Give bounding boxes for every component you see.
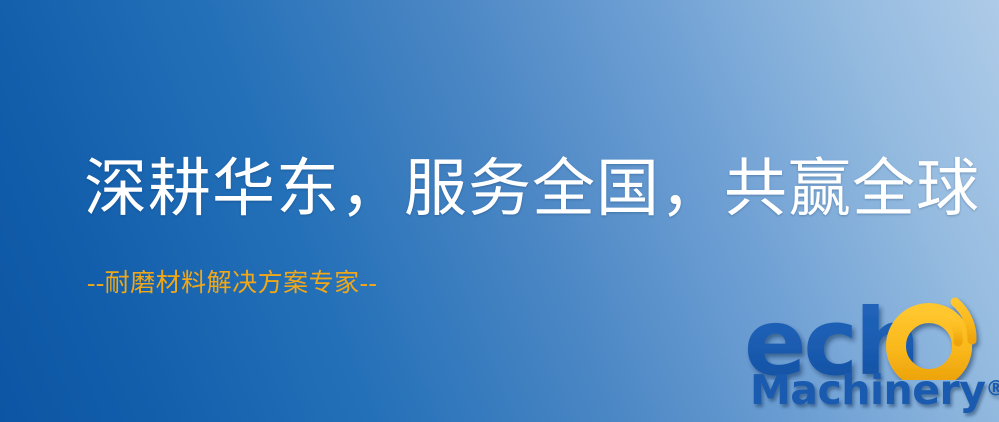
registered-mark: ® [985, 377, 999, 401]
logo-subtext: Machinery® [750, 366, 999, 414]
banner-subtitle: --耐磨材料解决方案专家-- [87, 268, 377, 300]
echo-machinery-logo: ech Machinery® [744, 296, 996, 420]
banner-headline: 深耕华东，服务全国，共赢全球 [84, 152, 980, 226]
logo-subtext-wrap: Machinery® [750, 366, 996, 416]
hero-banner: 深耕华东，服务全国，共赢全球 --耐磨材料解决方案专家-- [0, 0, 999, 422]
logo-subtext-label: Machinery [750, 366, 985, 414]
